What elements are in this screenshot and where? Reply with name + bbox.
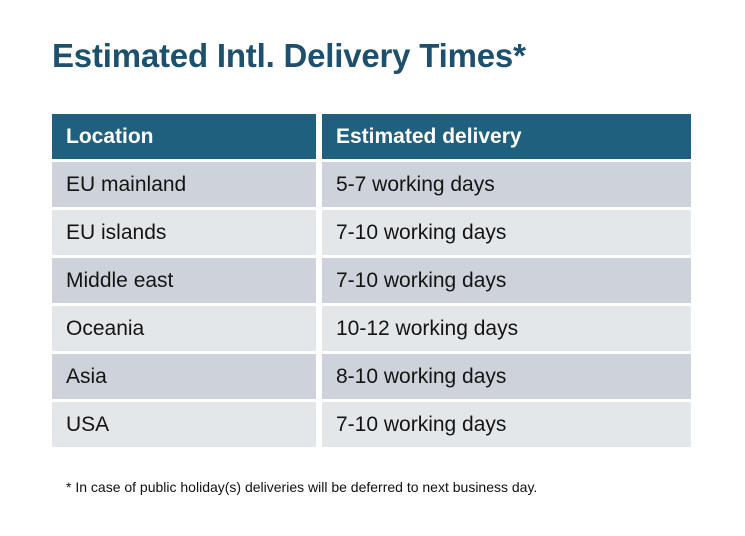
delivery-times-card: Estimated Intl. Delivery Times* Location… xyxy=(0,0,745,536)
footnote-text: * In case of public holiday(s) deliverie… xyxy=(66,479,537,495)
table-row: EU mainland 5-7 working days xyxy=(52,162,691,207)
table-row: Oceania 10-12 working days xyxy=(52,306,691,351)
cell-estimated-delivery: 7-10 working days xyxy=(322,258,691,303)
cell-estimated-delivery: 5-7 working days xyxy=(322,162,691,207)
page-title: Estimated Intl. Delivery Times* xyxy=(52,36,526,76)
cell-location: EU islands xyxy=(52,210,316,255)
cell-location: Asia xyxy=(52,354,316,399)
cell-estimated-delivery: 7-10 working days xyxy=(322,402,691,447)
cell-location: Oceania xyxy=(52,306,316,351)
cell-estimated-delivery: 10-12 working days xyxy=(322,306,691,351)
cell-estimated-delivery: 7-10 working days xyxy=(322,210,691,255)
table-row: EU islands 7-10 working days xyxy=(52,210,691,255)
cell-estimated-delivery: 8-10 working days xyxy=(322,354,691,399)
table-row: USA 7-10 working days xyxy=(52,402,691,447)
column-header-location: Location xyxy=(52,114,316,159)
cell-location: EU mainland xyxy=(52,162,316,207)
cell-location: USA xyxy=(52,402,316,447)
cell-location: Middle east xyxy=(52,258,316,303)
table-row: Middle east 7-10 working days xyxy=(52,258,691,303)
table-row: Asia 8-10 working days xyxy=(52,354,691,399)
table-header-row: Location Estimated delivery xyxy=(52,114,691,159)
estimated-delivery-table: Location Estimated delivery EU mainland … xyxy=(52,114,691,447)
column-header-estimated-delivery: Estimated delivery xyxy=(322,114,691,159)
